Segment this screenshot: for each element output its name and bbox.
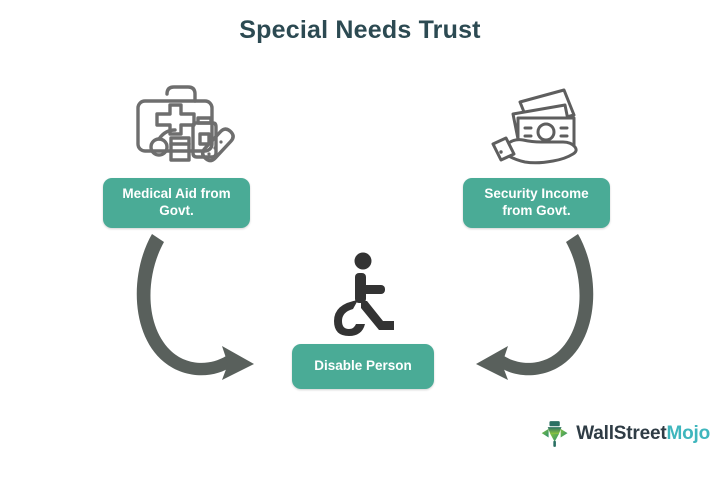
node-label-medical-aid: Medical Aid from Govt. <box>103 178 250 228</box>
medical-kit-icon <box>127 78 239 170</box>
page-title: Special Needs Trust <box>0 16 720 45</box>
brand-name-accent: Mojo <box>666 423 710 444</box>
curved-arrow-icon-left <box>128 228 288 388</box>
curved-arrow-icon-right <box>442 228 602 388</box>
cash-in-hand-icon <box>487 78 599 170</box>
brand-name-primary: WallStreet <box>576 423 666 444</box>
wheelchair-accessibility-icon <box>328 252 400 336</box>
brand-logo: WallStreetMojo <box>540 413 710 455</box>
wallstreetmojo-logo-icon <box>540 417 569 451</box>
node-label-disable-person: Disable Person <box>292 344 434 389</box>
node-label-security-income: Security Income from Govt. <box>463 178 610 228</box>
diagram-canvas: Special Needs Trust <box>0 0 720 486</box>
brand-wordmark: WallStreetMojo <box>576 423 710 445</box>
